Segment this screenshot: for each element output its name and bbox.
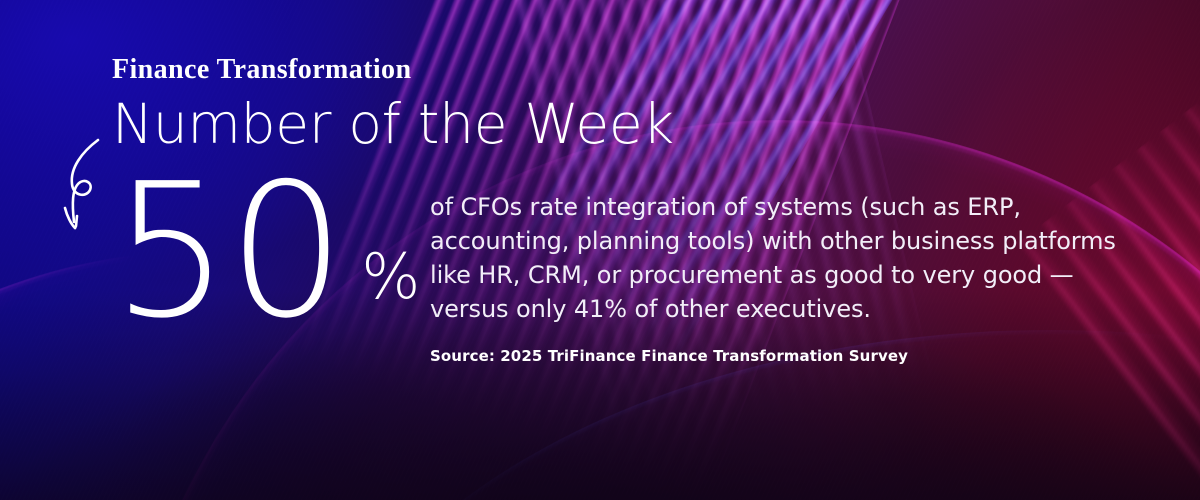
- body-copy: of CFOs rate integration of systems (suc…: [430, 190, 1120, 326]
- eyebrow-label: Finance Transformation: [112, 54, 411, 86]
- content-layer: Finance Transformation Number of the Wee…: [0, 0, 1200, 500]
- statistic-unit: %: [361, 246, 420, 308]
- source-note: Source: 2025 TriFinance Finance Transfor…: [430, 347, 908, 365]
- number-of-the-week-graphic: Finance Transformation Number of the Wee…: [0, 0, 1200, 500]
- statistic-value: 50: [112, 176, 343, 328]
- statistic-block: 50 %: [112, 176, 420, 328]
